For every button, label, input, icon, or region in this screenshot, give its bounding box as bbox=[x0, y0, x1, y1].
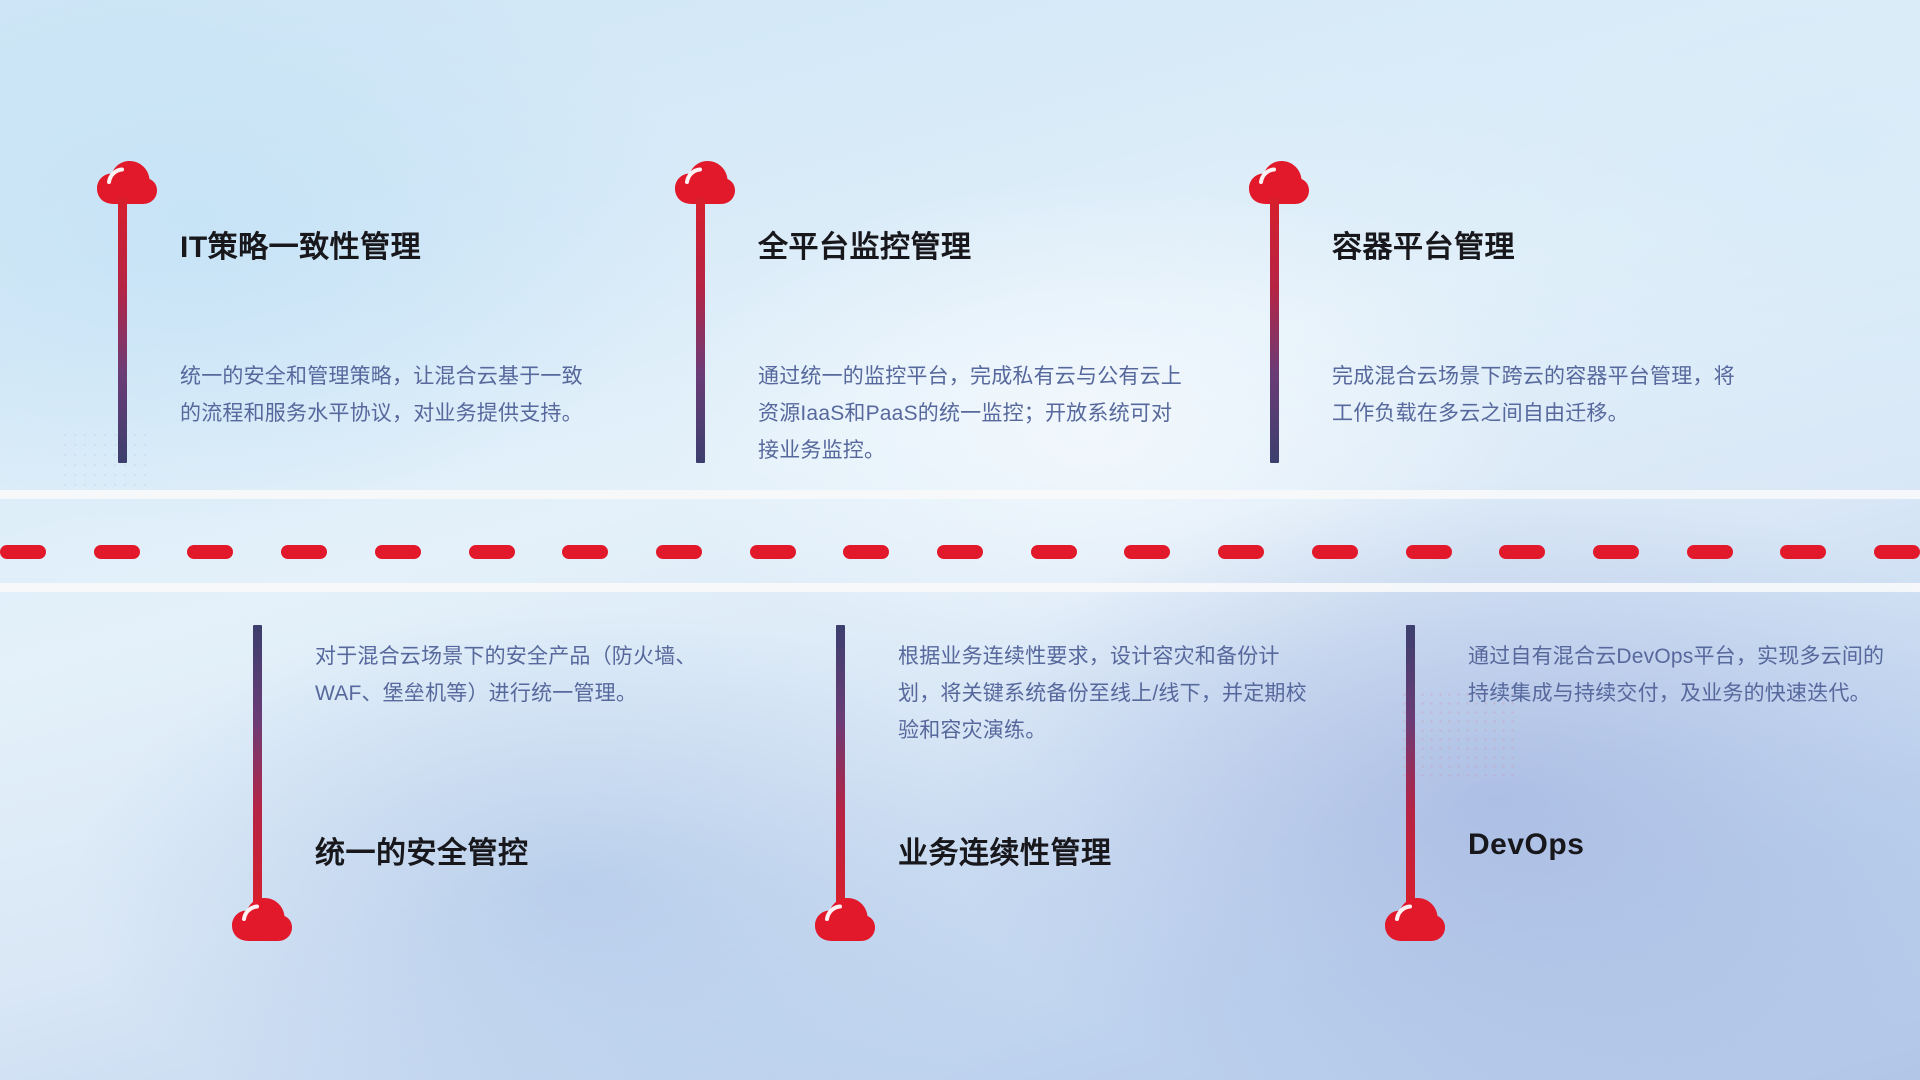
divider-dash bbox=[375, 545, 421, 559]
node-description: 通过自有混合云DevOps平台，实现多云间的持续集成与持续交付，及业务的快速迭代… bbox=[1468, 638, 1888, 712]
divider-dash bbox=[1031, 545, 1077, 559]
divider-dash bbox=[0, 545, 46, 559]
divider-dash bbox=[1593, 545, 1639, 559]
divider-dash bbox=[1499, 545, 1545, 559]
cloud-icon bbox=[674, 160, 736, 205]
stem-connector bbox=[836, 625, 845, 905]
divider-dash bbox=[656, 545, 702, 559]
divider-dash bbox=[1218, 545, 1264, 559]
node-description: 统一的安全和管理策略，让混合云基于一致的流程和服务水平协议，对业务提供支持。 bbox=[180, 358, 600, 432]
divider-dash bbox=[750, 545, 796, 559]
divider-line-bottom bbox=[0, 583, 1920, 592]
divider-dash bbox=[562, 545, 608, 559]
node-heading: IT策略一致性管理 bbox=[180, 222, 421, 266]
cloud-icon bbox=[814, 897, 876, 942]
node-heading: 容器平台管理 bbox=[1332, 222, 1515, 266]
divider-dash bbox=[1312, 545, 1358, 559]
cloud-icon bbox=[96, 160, 158, 205]
node-heading: 业务连续性管理 bbox=[898, 828, 1112, 872]
node-heading: DevOps bbox=[1468, 828, 1584, 862]
divider-dash bbox=[281, 545, 327, 559]
cloud-icon bbox=[1384, 897, 1446, 942]
divider-line-top bbox=[0, 490, 1920, 499]
dashed-divider bbox=[0, 545, 1920, 559]
divider-dash bbox=[843, 545, 889, 559]
divider-dash bbox=[1780, 545, 1826, 559]
node-description: 通过统一的监控平台，完成私有云与公有云上资源IaaS和PaaS的统一监控；开放系… bbox=[758, 358, 1188, 469]
cloud-icon bbox=[231, 897, 293, 942]
divider-dash bbox=[1124, 545, 1170, 559]
node-description: 对于混合云场景下的安全产品（防火墙、WAF、堡垒机等）进行统一管理。 bbox=[315, 638, 735, 712]
node-description: 完成混合云场景下跨云的容器平台管理，将工作负载在多云之间自由迁移。 bbox=[1332, 358, 1752, 432]
cloud-icon bbox=[1248, 160, 1310, 205]
stem-connector bbox=[696, 198, 705, 463]
node-heading: 统一的安全管控 bbox=[315, 828, 529, 872]
divider-dash bbox=[1687, 545, 1733, 559]
divider-dash bbox=[469, 545, 515, 559]
stem-connector bbox=[1270, 198, 1279, 463]
stem-connector bbox=[1406, 625, 1415, 905]
divider-dash bbox=[937, 545, 983, 559]
divider-dash bbox=[1406, 545, 1452, 559]
infographic-canvas: IT策略一致性管理 统一的安全和管理策略，让混合云基于一致的流程和服务水平协议，… bbox=[0, 0, 1920, 1080]
divider-dash bbox=[1874, 545, 1920, 559]
node-description: 根据业务连续性要求，设计容灾和备份计划，将关键系统备份至线上/线下，并定期校验和… bbox=[898, 638, 1318, 749]
node-heading: 全平台监控管理 bbox=[758, 222, 972, 266]
divider-dash bbox=[187, 545, 233, 559]
stem-connector bbox=[253, 625, 262, 905]
divider-dash bbox=[94, 545, 140, 559]
stem-connector bbox=[118, 198, 127, 463]
